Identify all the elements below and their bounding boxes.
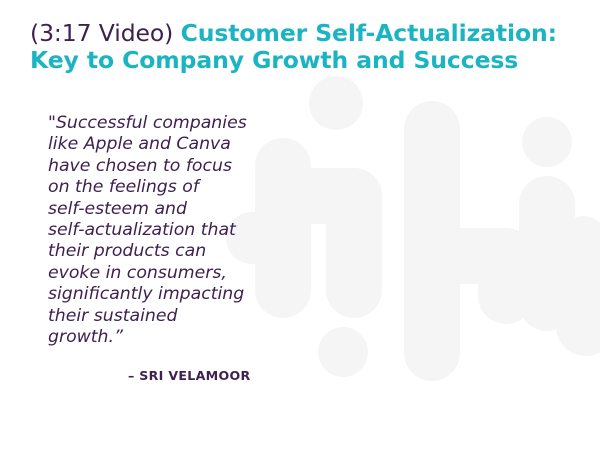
title-main-line-2: Key to Company Growth and Success: [30, 47, 570, 74]
quote-line: their products can: [48, 241, 278, 262]
quote-line: self-actualization that: [48, 220, 278, 241]
title-main-line-1: Customer Self-Actualization:: [181, 19, 557, 47]
quote-line: have chosen to focus: [48, 156, 278, 177]
quote-line: evoke in consumers,: [48, 263, 278, 284]
quote-line: significantly impacting: [48, 284, 278, 305]
slide-canvas: (3:17 Video) Customer Self-Actualization…: [0, 0, 600, 450]
quote-line: growth.”: [48, 327, 278, 348]
quote-line: "Successful companies: [48, 113, 278, 134]
quote-attribution: – SRI VELAMOOR: [128, 368, 250, 383]
quote-line: their sustained: [48, 306, 278, 327]
quote-text: "Successful companies like Apple and Can…: [48, 113, 278, 348]
slide-title: (3:17 Video) Customer Self-Actualization…: [30, 20, 570, 75]
quote-line: on the feelings of: [48, 177, 278, 198]
title-line-1: (3:17 Video) Customer Self-Actualization…: [30, 20, 570, 47]
quote-line: like Apple and Canva: [48, 134, 278, 155]
title-video-duration: (3:17 Video): [30, 19, 181, 47]
quote-line: self-esteem and: [48, 199, 278, 220]
